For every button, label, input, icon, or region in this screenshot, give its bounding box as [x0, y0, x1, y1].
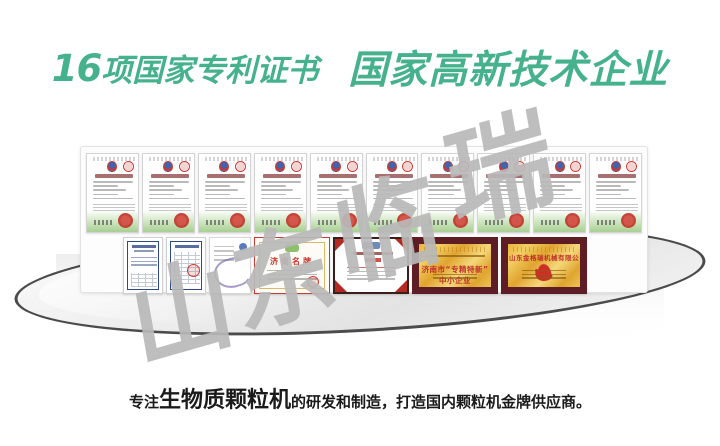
plaque-face: 山东金格瑞机械有限公司 [508, 244, 580, 287]
certificate-title-bar [95, 174, 133, 178]
certificate-fields [149, 181, 191, 202]
certificate-fields [131, 257, 157, 268]
signature-mark [374, 220, 394, 225]
tagline-lead: 专注 [129, 393, 159, 411]
corner-ornament-icon [335, 239, 347, 251]
jinan-famous-brand-certificate[interactable]: 济南名牌 [254, 237, 330, 294]
signature-mark [541, 220, 561, 225]
certificate-fields [261, 181, 303, 202]
plaque-face: 济南市“专精特新” 中小企业 [419, 244, 491, 287]
tagline-tail: 的研发和制造，打造国内颗粒机金牌供应商。 [291, 393, 591, 411]
certificate-title-bar [263, 174, 301, 178]
headline-hightech: 国家高新技术企业 [348, 39, 668, 95]
certificate-fields [93, 181, 135, 202]
signature-mark [485, 220, 505, 225]
certificate-fields [205, 181, 247, 202]
certificate-title-bar [319, 174, 357, 178]
patent-certificate-10[interactable] [589, 153, 642, 233]
patent-certificate-4[interactable] [254, 153, 307, 233]
plaque-header-lines [425, 255, 485, 257]
certificate-subtitle-bar [134, 250, 154, 252]
red-seal-icon [174, 213, 189, 228]
patent-certificate-7[interactable] [421, 153, 474, 233]
plaque-top-ornament [513, 247, 575, 252]
tax-registration-certificate[interactable] [166, 237, 206, 294]
national-emblem-icon [611, 161, 621, 172]
certificate-title-bar [353, 252, 393, 255]
patent-certificate-5[interactable] [310, 153, 363, 233]
signature-mark [206, 220, 226, 225]
signature-mark [262, 220, 282, 225]
national-emblem-icon [499, 161, 509, 172]
certificate-body-lines [347, 267, 395, 282]
national-emblem-icon [163, 161, 173, 172]
certificate-fields [317, 181, 359, 202]
red-seal-icon [118, 213, 133, 228]
signature-mark [318, 220, 338, 225]
certificate-title-bar [132, 245, 156, 248]
plaque-issuer-lines [522, 270, 566, 281]
headline-area: 16项国家专利证书 国家高新技术企业 [0, 38, 720, 96]
red-seal-icon [307, 276, 319, 288]
national-emblem-icon [219, 161, 229, 172]
certificate-title-bar [430, 174, 468, 178]
certificate-title-bar [542, 174, 580, 178]
patent-certificate-9[interactable] [533, 153, 586, 233]
certificate-fields [484, 181, 526, 202]
headline-patents: 16项国家专利证书 [52, 45, 319, 90]
national-emblem-icon [331, 161, 341, 172]
patent-certificate-row [86, 153, 642, 235]
certificate-fields [540, 181, 582, 202]
stamp-icon [347, 161, 358, 172]
accreditation-badge-icon [239, 243, 247, 251]
corner-ornament-icon [395, 239, 407, 251]
honor-certificate-row: 济南名牌 [123, 237, 647, 295]
certificate-title-bar [375, 174, 413, 178]
certificate-fields [428, 181, 470, 202]
certificate-fields [596, 181, 638, 202]
patent-certificate-8[interactable] [477, 153, 530, 233]
certificate-fields [373, 181, 415, 202]
certificate-title-bar [175, 245, 199, 248]
high-tech-enterprise-certificate[interactable] [333, 237, 409, 294]
stamp-icon [458, 161, 469, 172]
stamp-icon [626, 161, 637, 172]
headline-patents-label: 项国家专利证书 [101, 53, 318, 89]
stamp-icon [179, 161, 190, 172]
corner-ornament-icon [395, 280, 407, 292]
plaque-top-ornament [424, 247, 486, 252]
certificate-highlight-bar [365, 258, 381, 262]
brand-badge-icon [285, 244, 299, 252]
specialized-sme-plaque[interactable]: 济南市“专精特新” 中小企业 [412, 237, 498, 294]
company-honor-plaque[interactable]: 山东金格瑞机械有限公司 [501, 237, 587, 294]
emblem-icon [362, 242, 380, 249]
tagline-emphasis: 生物质颗粒机 [159, 388, 291, 413]
red-seal-icon [230, 213, 245, 228]
stamp-icon [570, 161, 581, 172]
national-emblem-icon [275, 161, 285, 172]
patent-certificate-6[interactable] [366, 153, 419, 233]
stamp-icon [123, 161, 134, 172]
patent-certificate-2[interactable] [142, 153, 195, 233]
national-emblem-icon [107, 161, 117, 172]
national-emblem-icon [443, 161, 453, 172]
red-seal-icon [187, 264, 200, 277]
red-seal-icon [342, 213, 357, 228]
certificate-table [131, 273, 157, 287]
certificate-title-bar [207, 174, 245, 178]
promo-banner: 16项国家专利证书 国家高新技术企业 山 东 临 瑞 [0, 0, 720, 446]
certificate-title-bar [151, 174, 189, 178]
signature-mark [150, 220, 170, 225]
red-seal-icon [621, 213, 636, 228]
certificate-title-bar [598, 174, 636, 178]
business-license-certificate[interactable] [123, 237, 163, 294]
certificate-board: 济南名牌 [80, 146, 648, 293]
certificate-title-bar [486, 174, 524, 178]
brand-title: 济南名牌 [255, 256, 329, 267]
stamp-icon [402, 161, 413, 172]
tagline: 专注生物质颗粒机的研发和制造，打造国内颗粒机金牌供应商。 [0, 382, 720, 414]
national-emblem-icon [387, 161, 397, 172]
signature-mark [597, 220, 617, 225]
corner-ornament-icon [335, 280, 347, 292]
iso-system-certificate[interactable] [209, 237, 251, 294]
stamp-icon [235, 161, 246, 172]
stamp-icon [291, 161, 302, 172]
red-seal-icon [286, 213, 301, 228]
signature-mark [429, 220, 449, 225]
patent-count: 16 [52, 47, 102, 90]
signature-mark [94, 220, 114, 225]
plaque-issuer-lines [433, 274, 477, 281]
patent-certificate-1[interactable] [86, 153, 139, 233]
stamp-icon [514, 161, 525, 172]
patent-certificate-3[interactable] [198, 153, 251, 233]
national-emblem-icon [555, 161, 565, 172]
